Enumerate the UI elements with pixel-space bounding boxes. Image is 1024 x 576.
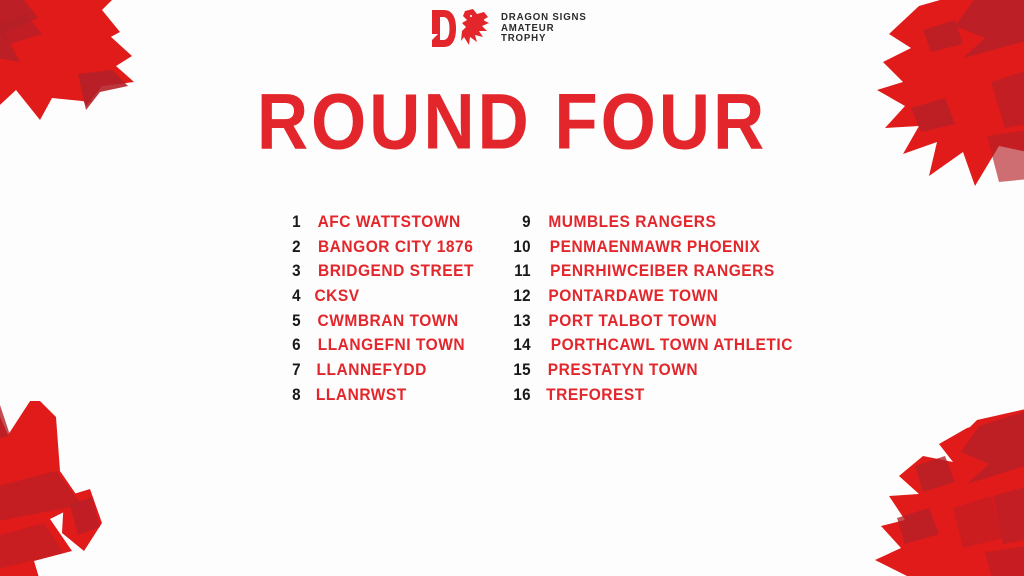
team-name: LLANGEFNI TOWN [318,336,465,355]
team-name: MUMBLES RANGERS [548,213,716,232]
team-column-left: 1AFC WATTSTOWN2BANGOR CITY 18763BRIDGEND… [272,213,502,411]
team-number: 13 [503,312,531,331]
team-row: 13PORT TALBOT TOWN [502,312,752,337]
team-name: PORTHCAWL TOWN ATHLETIC [551,336,793,355]
team-name: AFC WATTSTOWN [318,213,461,232]
team-row: 6LLANGEFNI TOWN [272,336,502,361]
team-number: 8 [273,386,301,405]
brand-logo: DRAGON SIGNS AMATEUR TROPHY [0,9,1024,47]
team-name: CKSV [314,287,359,306]
team-number: 4 [273,287,301,306]
dragon-bottom-left-icon [0,401,161,576]
team-row: 2BANGOR CITY 1876 [272,238,502,263]
team-row: 7LLANNEFYDD [272,361,502,386]
team-row: 3BRIDGEND STREET [272,262,502,287]
team-number: 1 [273,213,301,232]
team-number: 14 [503,336,531,355]
team-name: LLANRWST [316,386,407,405]
page-title: ROUND FOUR [20,83,1003,161]
team-number: 2 [273,238,301,257]
team-name: PRESTATYN TOWN [548,361,698,380]
team-name: BANGOR CITY 1876 [318,238,473,257]
team-number: 12 [503,287,531,306]
team-number: 7 [273,361,301,380]
team-name: PENMAENMAWR PHOENIX [550,238,761,257]
welsh-dragon-icon [461,9,491,47]
team-row: 9MUMBLES RANGERS [502,213,752,238]
team-name: BRIDGEND STREET [318,262,474,281]
team-row: 10PENMAENMAWR PHOENIX [502,238,752,263]
team-number: 11 [503,262,531,281]
team-row: 4CKSV [272,287,502,312]
brand-wordmark: DRAGON SIGNS AMATEUR TROPHY [501,12,594,44]
team-number: 16 [503,386,531,405]
team-number: 5 [273,312,301,331]
team-row: 12PONTARDAWE TOWN [502,287,752,312]
team-row: 11PENRHIWCEIBER RANGERS [502,262,752,287]
team-number: 6 [273,336,301,355]
team-name: PONTARDAWE TOWN [548,287,718,306]
slide-canvas: DRAGON SIGNS AMATEUR TROPHY ROUND FOUR 1… [0,0,1024,576]
team-list: 1AFC WATTSTOWN2BANGOR CITY 18763BRIDGEND… [0,213,1024,411]
team-number: 9 [503,213,531,232]
team-row: 14PORTHCAWL TOWN ATHLETIC [502,336,752,361]
team-number: 3 [273,262,301,281]
team-number: 10 [503,238,531,257]
team-name: TREFOREST [546,386,645,405]
dragon-bottom-right-icon [827,392,1024,576]
team-row: 8LLANRWST [272,386,502,411]
team-column-right: 9MUMBLES RANGERS10PENMAENMAWR PHOENIX11P… [502,213,752,411]
team-number: 15 [503,361,531,380]
team-row: 16TREFOREST [502,386,752,411]
brand-line-3: TROPHY [501,33,587,44]
team-name: PENRHIWCEIBER RANGERS [550,262,775,281]
team-name: PORT TALBOT TOWN [548,312,717,331]
team-row: 15PRESTATYN TOWN [502,361,752,386]
team-row: 5CWMBRAN TOWN [272,312,502,337]
team-row: 1AFC WATTSTOWN [272,213,502,238]
team-name: LLANNEFYDD [317,361,427,380]
letter-d-mark-icon [430,10,456,47]
team-name: CWMBRAN TOWN [318,312,459,331]
